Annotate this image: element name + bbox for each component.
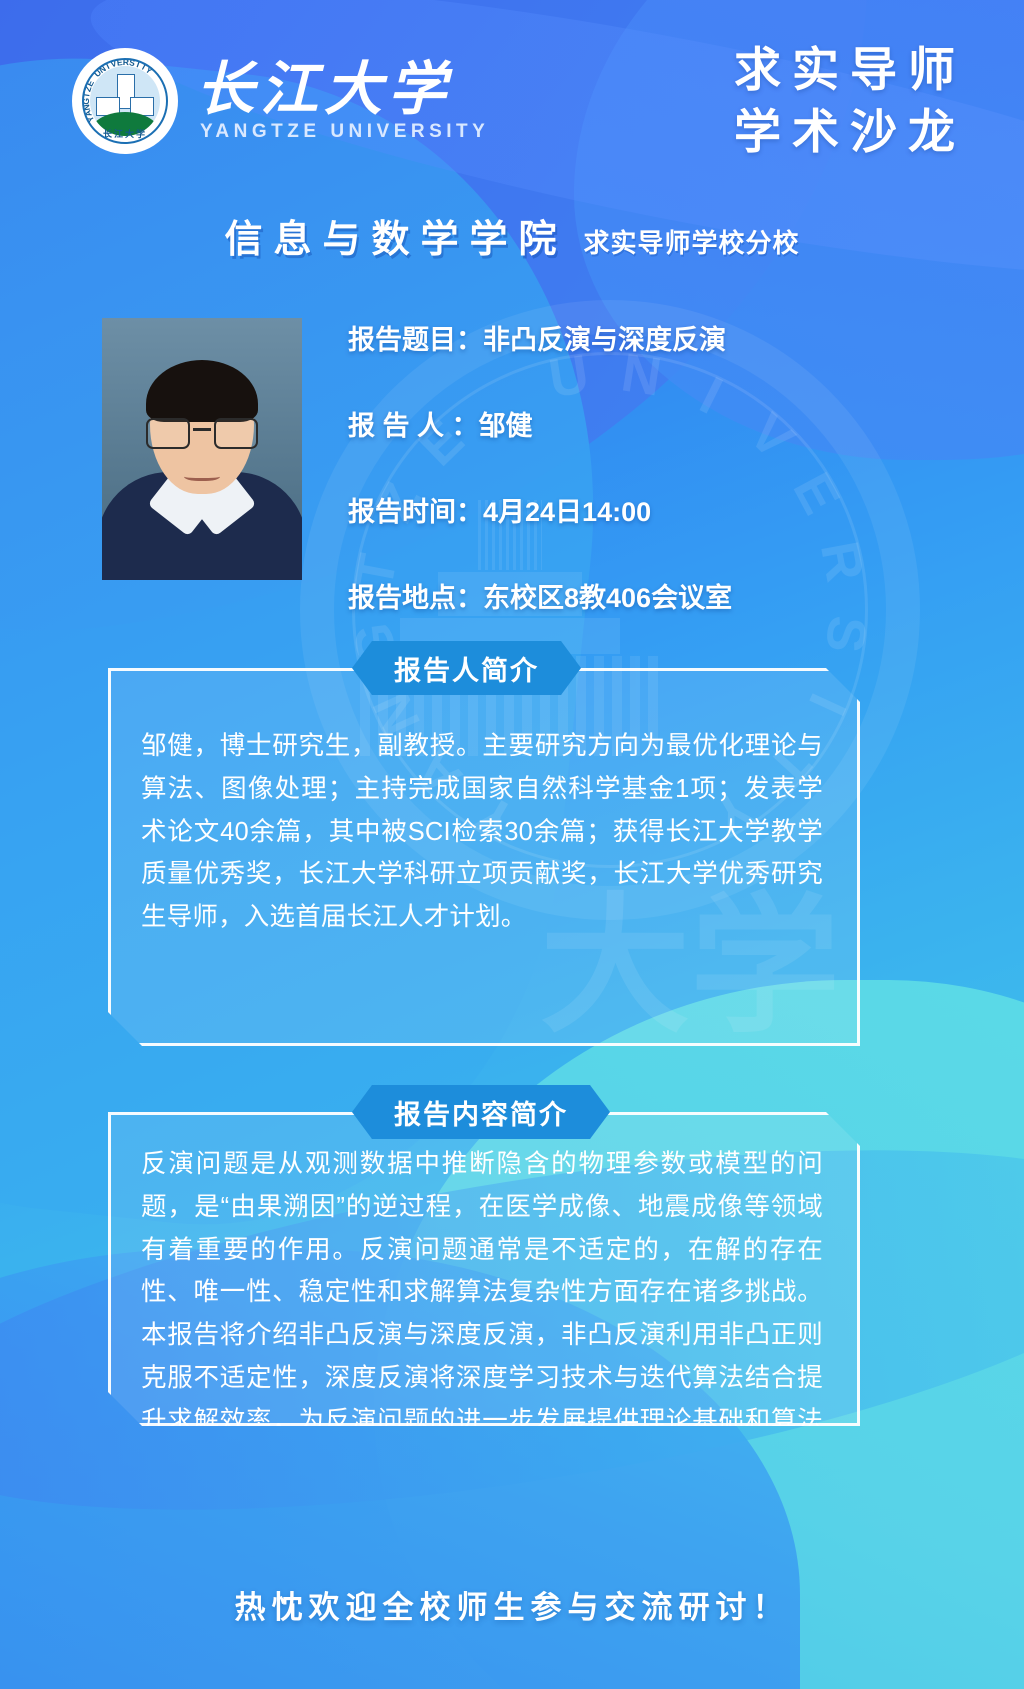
university-name-en: YANGTZE UNIVERSITY — [196, 121, 489, 143]
poster-root: YANGTZE UNIVERSITY 大学 YANGTZE UNIVERSITY… — [0, 0, 1024, 1689]
speaker-bio-text: 邹健，博士研究生，副教授。主要研究方向为最优化理论与算法、图像处理；主持完成国家… — [111, 681, 857, 939]
speaker-photo — [102, 318, 302, 580]
seal-emblem-icon — [90, 66, 160, 136]
meta-row-speaker: 报 告 人 ：邹健 — [348, 404, 948, 443]
college-branch: 求实导师学校分校 — [584, 223, 800, 260]
university-name-block: 长江大学 YANGTZE UNIVERSITY — [196, 59, 489, 144]
university-logo: YANGTZE UNIVERSITY 长江大学 长江大学 YANGTZE UNI… — [72, 48, 489, 154]
meta-row-location: 报告地点：东校区8教406会议室 — [348, 576, 948, 615]
meta-row-title: 报告题目：非凸反演与深度反演 — [348, 318, 948, 357]
meta-row-time: 报告时间：4月24日14:00 — [348, 490, 948, 529]
speaker-bio-badge: 报告人简介 — [352, 641, 581, 695]
meta-label-title: 报告题目： — [348, 325, 483, 355]
series-title-line1: 求实导师 — [734, 40, 966, 102]
glasses-icon — [146, 418, 190, 449]
abstract-card: 反演问题是从观测数据中推断隐含的物理参数或模型的问题，是“由果溯因”的逆过程，在… — [108, 1112, 860, 1426]
university-name-cn: 长江大学 — [196, 59, 489, 120]
footer-invitation: 热忱欢迎全校师生参与交流研讨！ — [0, 1582, 1024, 1627]
college-line: 信息与数学学院 求实导师学校分校 — [0, 208, 1024, 263]
meta-value-speaker: 邹健 — [479, 411, 533, 441]
meta-label-time: 报告时间： — [348, 497, 483, 527]
series-title-line2: 学术沙龙 — [734, 102, 966, 164]
seal-bottom-text: 长江大学 — [75, 127, 175, 140]
meta-value-time: 4月24日14:00 — [483, 497, 651, 527]
meta-value-location: 东校区8教406会议室 — [483, 583, 732, 613]
meta-label-speaker: 报 告 人 ： — [348, 411, 479, 441]
meta-label-location: 报告地点： — [348, 583, 483, 613]
speaker-bio-card: 邹健，博士研究生，副教授。主要研究方向为最优化理论与算法、图像处理；主持完成国家… — [108, 668, 860, 1046]
meta-value-title: 非凸反演与深度反演 — [483, 325, 726, 355]
series-title: 求实导师 学术沙龙 — [734, 40, 966, 164]
college-name: 信息与数学学院 — [224, 208, 567, 263]
abstract-badge: 报告内容简介 — [352, 1085, 610, 1139]
university-seal-icon: YANGTZE UNIVERSITY 长江大学 — [72, 48, 178, 154]
event-meta-list: 报告题目：非凸反演与深度反演 报 告 人 ：邹健 报告时间：4月24日14:00… — [348, 318, 948, 662]
glasses-icon — [214, 418, 258, 449]
poster-header: YANGTZE UNIVERSITY 长江大学 长江大学 YANGTZE UNI… — [0, 0, 1024, 190]
